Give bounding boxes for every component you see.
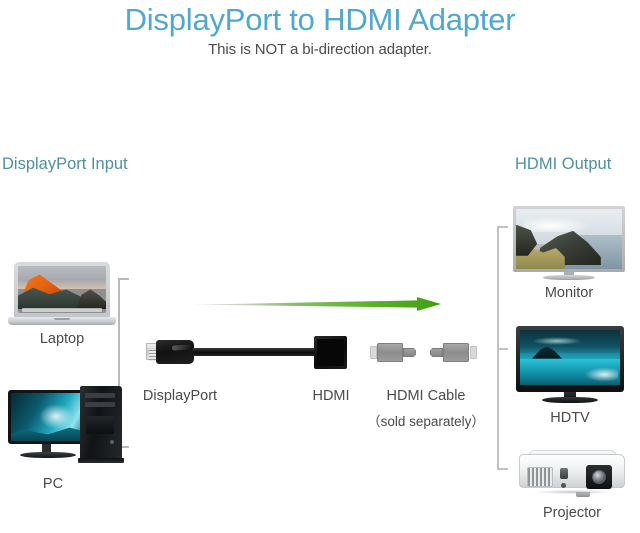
hdtv-scene-cloud <box>532 337 582 346</box>
pc-monitor-foot <box>20 452 76 458</box>
hdmi-connector-left-tip <box>403 348 416 357</box>
projector-lens-icon <box>592 470 606 484</box>
projector-sensor-icon <box>561 483 566 488</box>
hdmi-connector-left-cable-tail <box>370 346 377 359</box>
projector-lens-housing <box>586 465 612 489</box>
displayport-highlight <box>172 344 192 350</box>
caption-hdmi: HDMI <box>303 388 359 404</box>
hdmi-connector-right-tip <box>430 348 443 357</box>
laptop-screen <box>18 266 106 313</box>
projector-illustration <box>519 450 625 498</box>
pc-illustration <box>8 386 123 472</box>
pc-monitor-frame <box>8 390 84 444</box>
signal-flow-arrow <box>193 296 457 312</box>
projector-control-knob <box>560 468 568 479</box>
pc-monitor-screen <box>11 393 81 441</box>
pc-screen-glow <box>39 404 73 429</box>
section-label-hdmi-output: HDMI Output <box>515 155 611 174</box>
caption-hdmi-cable-note: （sold separately） <box>358 410 494 430</box>
monitor-scene-cloud <box>524 217 590 231</box>
pc-tower <box>80 386 122 460</box>
caption-hdtv: HDTV <box>516 410 624 426</box>
caption-pc: PC <box>8 476 98 492</box>
hdmi-port-cavity <box>317 339 344 366</box>
displayport-plug-body <box>156 340 194 364</box>
caption-projector: Projector <box>519 505 625 521</box>
laptop-illustration <box>8 262 116 325</box>
hdmi-connector-left-shell <box>377 343 403 362</box>
hdmi-connector-right-shell <box>443 343 469 362</box>
hdtv-screen <box>520 330 620 385</box>
caption-laptop: Laptop <box>8 331 116 347</box>
pc-tower-drive-bay <box>85 393 115 398</box>
caption-displayport: DisplayPort <box>133 388 227 404</box>
diagram-canvas: DisplayPort to HDMI Adapter This is NOT … <box>0 0 640 533</box>
laptop-dock-bar <box>22 308 103 312</box>
laptop-lid <box>14 262 110 318</box>
page-subtitle: This is NOT a bi-direction adapter. <box>0 41 640 58</box>
hdtv-stand-foot <box>542 397 598 403</box>
pc-tower-front-panel <box>86 416 114 434</box>
caption-hdmi-cable: HDMI Cable <box>366 388 486 404</box>
pc-tower-base <box>78 458 124 463</box>
monitor-stand-foot <box>543 275 595 280</box>
hdmi-cable-connector-left <box>370 343 418 362</box>
laptop-notch <box>54 318 70 320</box>
projector-vent-grille <box>527 467 553 487</box>
output-group-bracket <box>497 226 508 470</box>
hdtv-frame <box>516 326 624 392</box>
page-title: DisplayPort to HDMI Adapter <box>0 2 640 38</box>
projector-shadow <box>533 490 613 494</box>
hdmi-cable-connector-right <box>428 343 478 362</box>
section-label-displayport-input: DisplayPort Input <box>2 155 128 174</box>
hdtv-scene-foam <box>584 367 618 381</box>
projector-body <box>519 454 625 488</box>
displayport-pins <box>149 350 156 361</box>
hdtv-illustration <box>516 326 624 404</box>
pc-tower-drive-bay-2 <box>85 402 115 407</box>
hdmi-female-port <box>314 336 347 369</box>
output-bracket-middle-tick <box>499 348 508 350</box>
displayport-plug <box>146 340 194 364</box>
adapter-cable <box>192 348 316 356</box>
monitor-illustration <box>513 206 625 280</box>
caption-monitor: Monitor <box>513 285 625 301</box>
monitor-frame <box>513 206 625 272</box>
pc-power-led-icon <box>110 440 114 444</box>
hdmi-connector-right-cable-tail <box>470 346 477 359</box>
monitor-screen <box>516 209 622 269</box>
laptop-wallpaper-ridge-right <box>76 289 106 310</box>
